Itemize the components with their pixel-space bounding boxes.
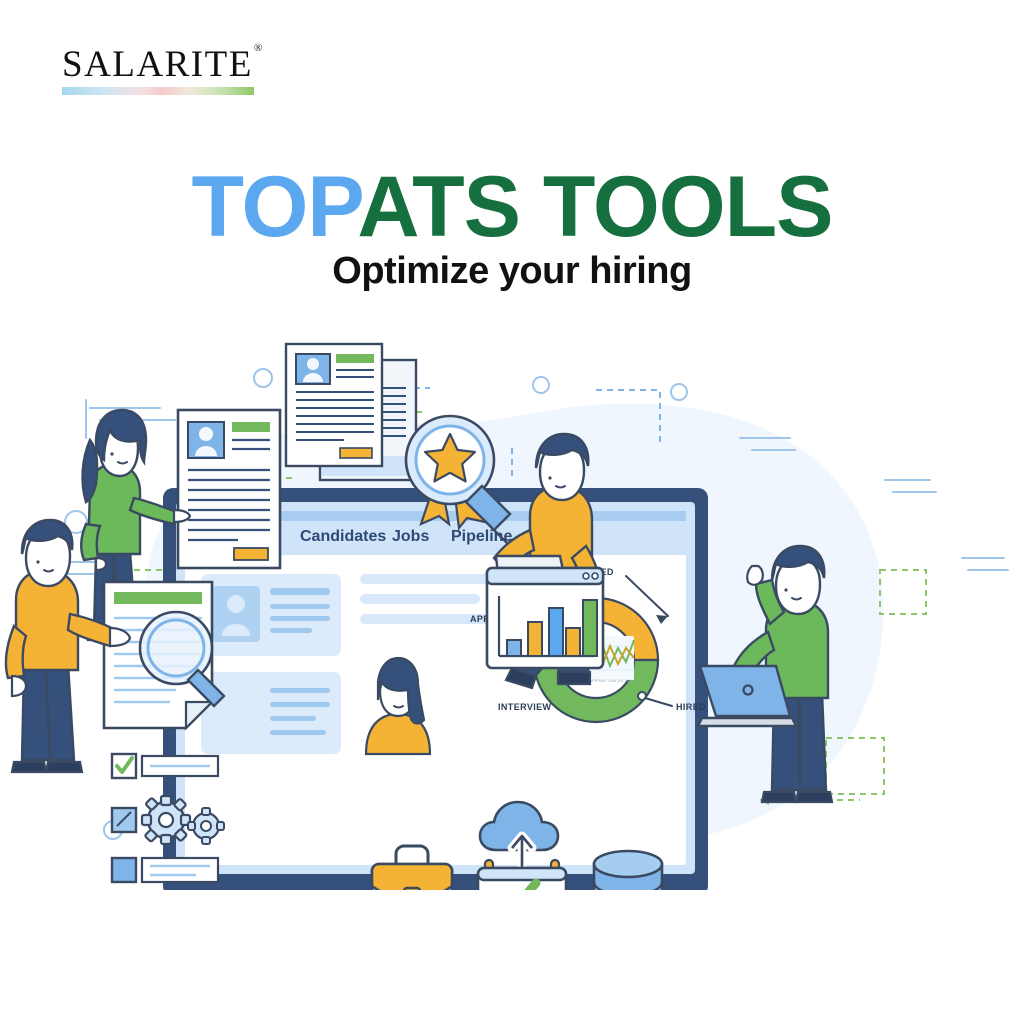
page-subtitle: Optimize your hiring	[0, 250, 1024, 293]
title-part-top: TOP	[191, 159, 357, 255]
donut-label-hired: HIRED	[676, 702, 706, 712]
registered-trademark-icon: ®	[254, 42, 264, 54]
tab-jobs[interactable]: Jobs	[392, 528, 429, 545]
brand-gradient-bar	[62, 87, 254, 95]
brand-name: SALARITE®	[62, 46, 263, 83]
donut-label-interview: INTERVIEW	[498, 702, 552, 712]
resume-card-large[interactable]	[178, 410, 280, 568]
candidate-card-1[interactable]	[201, 574, 341, 656]
page-title: TOPATS TOOLS	[0, 164, 1024, 250]
brand-logo: SALARITE®	[62, 46, 262, 95]
candidate-card-2[interactable]	[201, 672, 341, 754]
poster-canvas: SALARITE® TOPATS TOOLS Optimize your hir…	[0, 0, 1024, 1024]
gear-icon-large	[142, 796, 190, 844]
brand-name-text: SALARITE	[62, 44, 253, 85]
settings-checklist[interactable]	[112, 754, 224, 882]
tab-candidates[interactable]: Candidates	[300, 528, 386, 545]
hero-illustration: .st{fill:none;stroke:#3a4a63;stroke-widt…	[0, 330, 1024, 890]
resume-card-top[interactable]	[286, 344, 416, 480]
bar-chart-widget[interactable]	[487, 568, 603, 668]
title-part-ats-tools: ATS TOOLS	[357, 159, 832, 255]
tab-pipeline[interactable]: Pipeline	[451, 528, 512, 545]
database-icon	[594, 851, 662, 890]
